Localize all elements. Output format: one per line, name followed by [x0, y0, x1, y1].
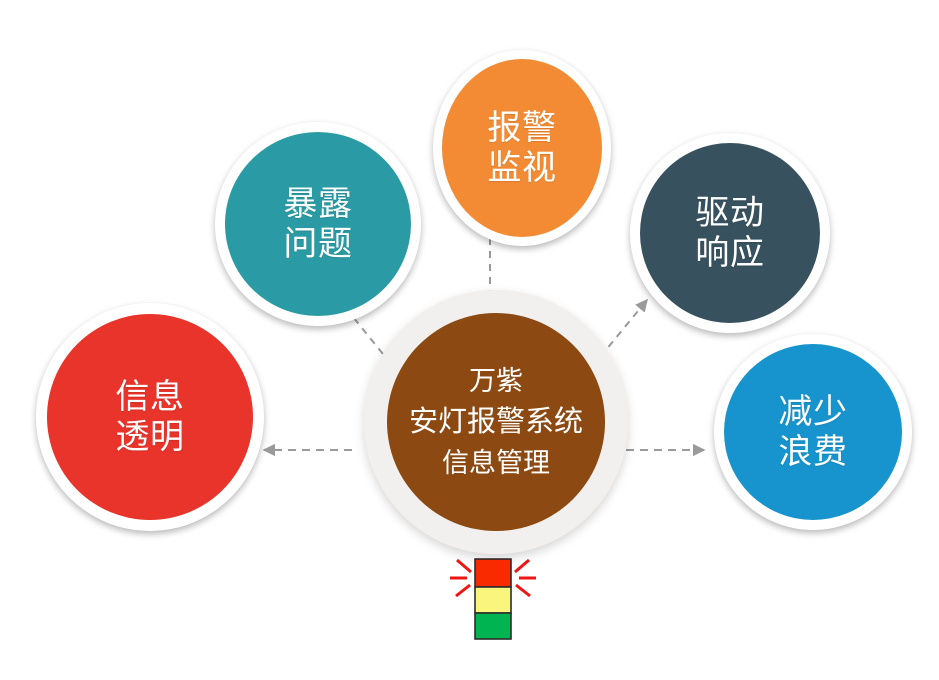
node-drive-response-line1: 驱动: [695, 193, 764, 233]
node-alarm-monitoring-disc: 报警 监视: [442, 59, 602, 237]
flash-ray-lower-left: [456, 585, 470, 596]
node-information-transparency-disc: 信息 透明: [47, 314, 253, 520]
node-reduce-waste-line2: 浪费: [778, 432, 847, 472]
node-alarm-monitoring-line2: 监视: [487, 148, 556, 188]
node-expose-problems[interactable]: 暴露 问题: [215, 122, 421, 326]
flash-ray-lower-right: [516, 585, 530, 596]
diagram-canvas: 报警 监视 暴露 问题 驱动 响应 信息 透明 减少 浪费 万紫 安: [0, 0, 939, 680]
node-reduce-waste-line1: 减少: [778, 392, 847, 432]
center-hub-disc: 万紫 安灯报警系统 信息管理: [387, 313, 605, 531]
node-alarm-monitoring-line1: 报警: [487, 108, 556, 148]
node-reduce-waste[interactable]: 减少 浪费: [714, 334, 912, 530]
node-drive-response[interactable]: 驱动 响应: [630, 133, 830, 333]
node-information-transparency[interactable]: 信息 透明: [36, 303, 264, 531]
node-information-transparency-line2: 透明: [115, 417, 184, 457]
node-information-transparency-line1: 信息: [115, 377, 184, 417]
center-hub-line2: 安灯报警系统: [409, 408, 583, 437]
lamp-red: [475, 559, 511, 587]
node-alarm-monitoring[interactable]: 报警 监视: [433, 50, 611, 246]
flash-ray-upper-left: [457, 560, 471, 572]
flash-ray-upper-right: [515, 560, 529, 572]
andon-light-tower: [445, 548, 541, 648]
center-hub[interactable]: 万紫 安灯报警系统 信息管理: [364, 290, 628, 554]
node-expose-problems-line1: 暴露: [283, 184, 352, 224]
lamp-yellow: [475, 587, 511, 613]
node-expose-problems-disc: 暴露 问题: [225, 132, 411, 316]
node-reduce-waste-disc: 减少 浪费: [724, 344, 902, 520]
andon-lamp-stack: [475, 559, 511, 639]
lamp-green: [475, 613, 511, 639]
node-drive-response-line2: 响应: [695, 233, 764, 273]
node-expose-problems-line2: 问题: [283, 224, 352, 264]
node-drive-response-disc: 驱动 响应: [640, 143, 820, 323]
center-hub-line3: 信息管理: [442, 450, 550, 477]
center-hub-line1: 万紫: [469, 368, 523, 395]
